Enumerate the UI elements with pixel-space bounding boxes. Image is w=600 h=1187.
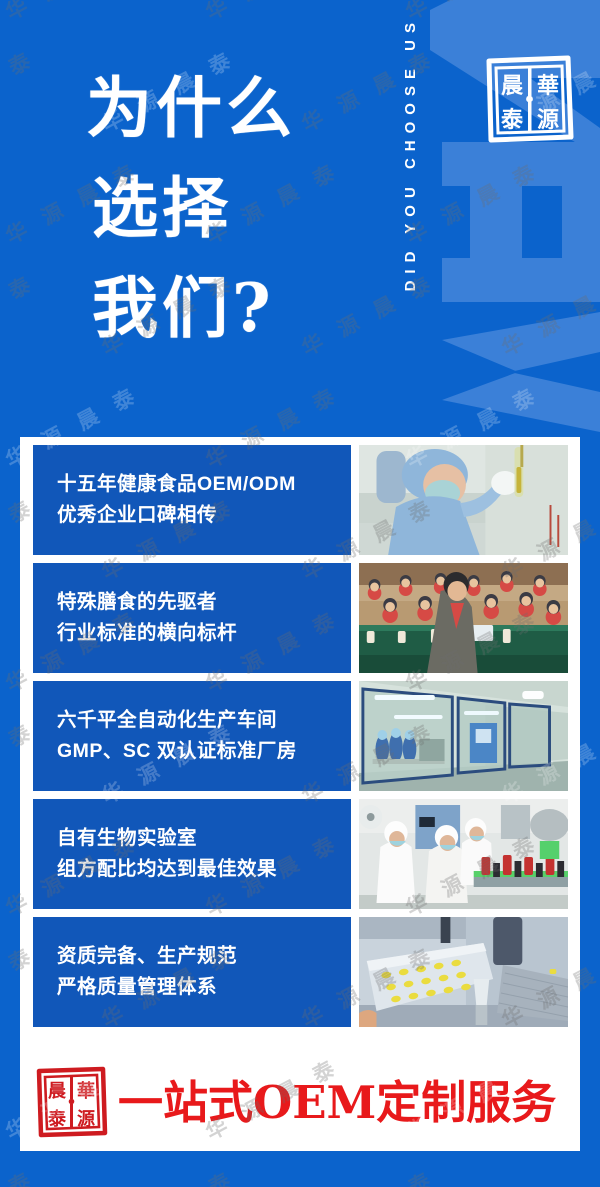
cta-headline: 一站式OEM定制服务 — [118, 1080, 556, 1125]
feature-line: GMP、SC 双认证标准厂房 — [57, 736, 351, 767]
feature-text-block: 十五年健康食品OEM/ODM 优秀企业口碑相传 — [33, 445, 351, 555]
watermark-text: 华 源 晨 泰 — [96, 1163, 241, 1187]
svg-text:源: 源 — [77, 1108, 95, 1130]
feature-text-block: 自有生物实验室 组方配比均达到最佳效果 — [33, 799, 351, 909]
feature-row[interactable]: 六千平全自动化生产车间 GMP、SC 双认证标准厂房 — [33, 681, 568, 791]
svg-text:晨: 晨 — [501, 73, 524, 99]
feature-line: 自有生物实验室 — [57, 823, 351, 854]
vertical-tagline: DID YOU CHOOSE US — [402, 16, 419, 406]
feature-rows: 十五年健康食品OEM/ODM 优秀企业口碑相传 — [20, 437, 580, 1035]
page-title-line-3: 我们? — [92, 258, 386, 358]
svg-text:晨: 晨 — [48, 1081, 67, 1102]
brand-seal-red-icon: 晨 華 泰 源 — [34, 1065, 108, 1139]
page-title-line-2: 选择 — [92, 158, 386, 258]
watermark-text: 华 源 晨 泰 — [296, 1163, 441, 1187]
svg-text:泰: 泰 — [47, 1108, 67, 1130]
production-line-staff-photo — [359, 799, 568, 909]
feature-line: 行业标准的横向标杆 — [57, 618, 351, 649]
cleanroom-corridor-photo — [359, 681, 568, 791]
feature-row[interactable]: 特殊膳食的先驱者 行业标准的横向标杆 — [33, 563, 568, 673]
feature-line: 十五年健康食品OEM/ODM — [57, 469, 351, 500]
feature-line: 资质完备、生产规范 — [57, 941, 351, 972]
poster-header: 为什么 选择 我们? DID YOU CHOOSE US 晨 — [0, 0, 600, 437]
svg-text:華: 華 — [77, 1080, 95, 1102]
feature-text-block: 六千平全自动化生产车间 GMP、SC 双认证标准厂房 — [33, 681, 351, 791]
page-title-line-1: 为什么 — [86, 58, 386, 158]
feature-row[interactable]: 自有生物实验室 组方配比均达到最佳效果 — [33, 799, 568, 909]
svg-text:源: 源 — [537, 107, 559, 133]
feature-line: 优秀企业口碑相传 — [57, 500, 351, 531]
svg-text:泰: 泰 — [500, 107, 524, 133]
brand-seal-icon: 晨 華 泰 源 — [483, 53, 575, 145]
feature-text-block: 资质完备、生产规范 严格质量管理体系 — [33, 917, 351, 1027]
feature-line: 六千平全自动化生产车间 — [57, 705, 351, 736]
feature-text-block: 特殊膳食的先驱者 行业标准的横向标杆 — [33, 563, 351, 673]
lab-technician-photo — [359, 445, 568, 555]
blister-packaging-photo — [359, 917, 568, 1027]
watermark-text: 华 源 晨 泰 — [0, 1163, 41, 1187]
page-title: 为什么 选择 我们? — [86, 58, 386, 358]
feature-line: 组方配比均达到最佳效果 — [57, 854, 351, 885]
feature-line: 特殊膳食的先驱者 — [57, 587, 351, 618]
feature-line: 严格质量管理体系 — [57, 972, 351, 1003]
conference-audience-photo — [359, 563, 568, 673]
svg-text:華: 華 — [537, 73, 559, 99]
feature-row[interactable]: 十五年健康食品OEM/ODM 优秀企业口碑相传 — [33, 445, 568, 555]
watermark-text: 华 源 晨 泰 — [496, 1163, 600, 1187]
poster-root: 为什么 选择 我们? DID YOU CHOOSE US 晨 — [0, 0, 600, 1187]
vertical-tagline-text: DID YOU CHOOSE US — [402, 16, 419, 291]
cta-banner[interactable]: 晨 華 泰 源 一站式OEM定制服务 — [20, 1053, 580, 1151]
features-card: 十五年健康食品OEM/ODM 优秀企业口碑相传 — [20, 437, 580, 1151]
feature-row[interactable]: 资质完备、生产规范 严格质量管理体系 — [33, 917, 568, 1027]
